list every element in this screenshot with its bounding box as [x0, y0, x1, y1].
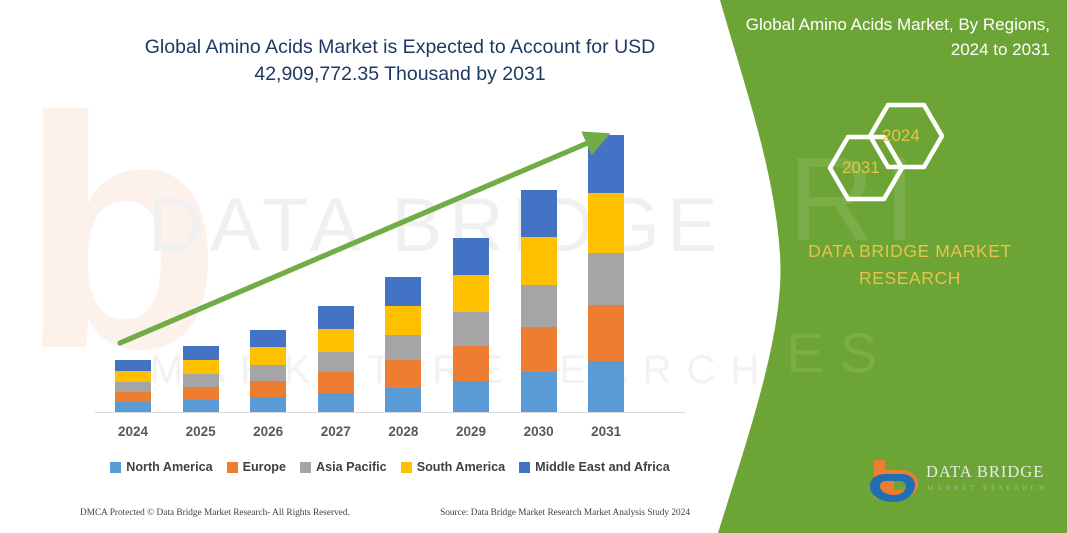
legend-label: North America [126, 460, 212, 474]
dbmr-logo-subtext: MARKET RESEARCH [927, 484, 1048, 492]
legend-item[interactable]: Middle East and Africa [519, 460, 670, 474]
legend-swatch-icon [519, 462, 530, 473]
panel-title-line-2: 2024 to 2031 [730, 37, 1050, 62]
dbmr-logo-mark-icon [868, 458, 924, 510]
brand-name: DATA BRIDGE MARKET RESEARCH [780, 238, 1040, 292]
bar-segment [385, 335, 421, 360]
bar-segment [115, 392, 151, 402]
legend-swatch-icon [227, 462, 238, 473]
bar-segment [385, 388, 421, 412]
bar-segment [453, 275, 489, 313]
bar-segment [521, 327, 557, 372]
bar-segment [250, 365, 286, 381]
hexagon-badges: 2024 2031 [800, 95, 1000, 215]
legend-item[interactable]: Asia Pacific [300, 460, 387, 474]
bar-segment [115, 371, 151, 382]
bar-column [115, 360, 151, 412]
footer-bar: DMCA Protected © Data Bridge Market Rese… [80, 508, 690, 518]
bar-segment [453, 381, 489, 412]
chart-legend: North AmericaEuropeAsia PacificSouth Ame… [95, 460, 685, 474]
bar-segment [115, 360, 151, 370]
footer-copyright: DMCA Protected © Data Bridge Market Rese… [80, 508, 350, 518]
brand-line-2: RESEARCH [780, 265, 1040, 292]
bar-segment [250, 330, 286, 347]
footer-source: Source: Data Bridge Market Research Mark… [440, 508, 690, 518]
bar-segment [183, 374, 219, 386]
bar-segment [588, 253, 624, 305]
panel-watermark-bottom: RES [730, 320, 893, 385]
brand-line-1: DATA BRIDGE MARKET [780, 238, 1040, 265]
x-axis-tick-label: 2031 [566, 424, 646, 439]
legend-label: Europe [243, 460, 286, 474]
legend-label: Asia Pacific [316, 460, 387, 474]
bar-segment [453, 346, 489, 381]
legend-swatch-icon [401, 462, 412, 473]
bar-segment [115, 402, 151, 412]
legend-label: South America [417, 460, 505, 474]
bar-segment [385, 306, 421, 335]
legend-label: Middle East and Africa [535, 460, 670, 474]
bar-segment [588, 305, 624, 361]
bar-segment [521, 237, 557, 285]
bar-segment [250, 381, 286, 398]
hexagon-label-2024: 2024 [882, 126, 920, 146]
bar-segment [318, 372, 354, 393]
bar-segment [318, 329, 354, 352]
bar-segment [318, 393, 354, 412]
bar-column [250, 330, 286, 412]
bar-column [521, 190, 557, 412]
brand-panel: BRI RES Global Amino Acids Market, By Re… [690, 0, 1067, 533]
dbmr-logo: DATA BRIDGE MARKET RESEARCH [868, 458, 1058, 514]
bar-segment [453, 238, 489, 275]
bar-column [318, 306, 354, 412]
legend-swatch-icon [110, 462, 121, 473]
bar-segment [183, 346, 219, 360]
bar-segment [318, 306, 354, 329]
legend-item[interactable]: South America [401, 460, 505, 474]
bar-column [453, 238, 489, 412]
bar-segment [183, 387, 219, 400]
bar-column [385, 277, 421, 412]
x-axis-line [95, 412, 685, 413]
bar-segment [453, 312, 489, 345]
bar-segment [250, 347, 286, 364]
legend-item[interactable]: Europe [227, 460, 286, 474]
bar-segment [521, 190, 557, 237]
chart-title-line-2: 42,909,772.35 Thousand by 2031 [95, 61, 705, 88]
bar-segment [521, 285, 557, 327]
bar-segment [521, 372, 557, 412]
bar-column [588, 135, 624, 412]
bar-segment [588, 361, 624, 412]
chart-title-line-1: Global Amino Acids Market is Expected to… [95, 34, 705, 61]
dbmr-logo-text: DATA BRIDGE [926, 462, 1044, 482]
bar-segment [250, 397, 286, 412]
panel-title-line-1: Global Amino Acids Market, By Regions, [730, 12, 1050, 37]
legend-item[interactable]: North America [110, 460, 212, 474]
bar-segment [385, 360, 421, 387]
bar-segment [318, 352, 354, 372]
bar-segment [115, 382, 151, 392]
bar-segment [183, 400, 219, 412]
bar-segment [183, 360, 219, 374]
hexagon-shapes-icon [800, 95, 1000, 215]
panel-title: Global Amino Acids Market, By Regions, 2… [730, 12, 1050, 62]
bar-column [183, 346, 219, 412]
bar-segment [588, 135, 624, 193]
legend-swatch-icon [300, 462, 311, 473]
bar-segment [588, 193, 624, 253]
bar-segment [385, 277, 421, 306]
chart-title: Global Amino Acids Market is Expected to… [95, 34, 705, 88]
hexagon-label-2031: 2031 [842, 158, 880, 178]
infographic-canvas: b DATA BRIDGE MARKET RESEARCH Global Ami… [0, 0, 1067, 533]
